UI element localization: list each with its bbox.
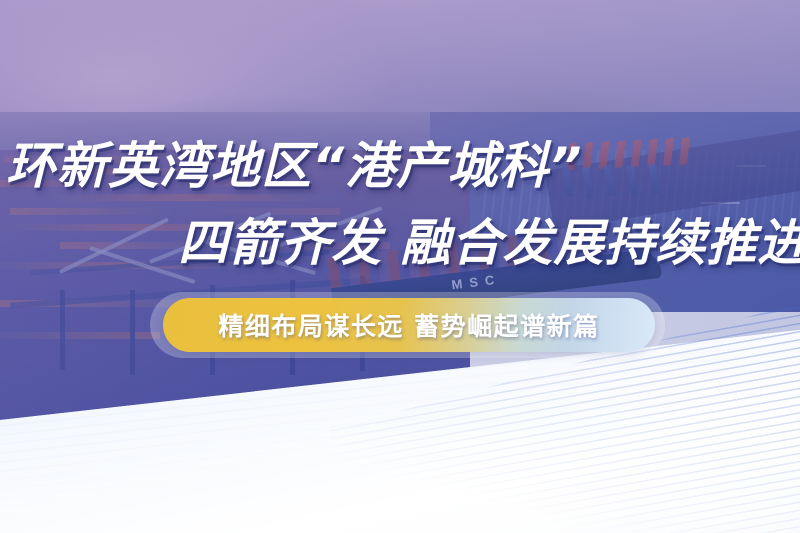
promo-banner: MSC 环新英湾地区“港产城科” 四箭齐发 融合发展持续推进 精细布局谋长远 蓄… (0, 0, 800, 533)
headline-block: 环新英湾地区“港产城科” 四箭齐发 融合发展持续推进 精细布局谋长远 蓄势崛起谱… (0, 0, 800, 533)
headline-line-1: 环新英湾地区“港产城科” (6, 126, 582, 198)
subtitle-text: 精细布局谋长远 蓄势崛起谱新篇 (163, 298, 655, 352)
headline-line-2: 四箭齐发 融合发展持续推进 (178, 203, 800, 275)
